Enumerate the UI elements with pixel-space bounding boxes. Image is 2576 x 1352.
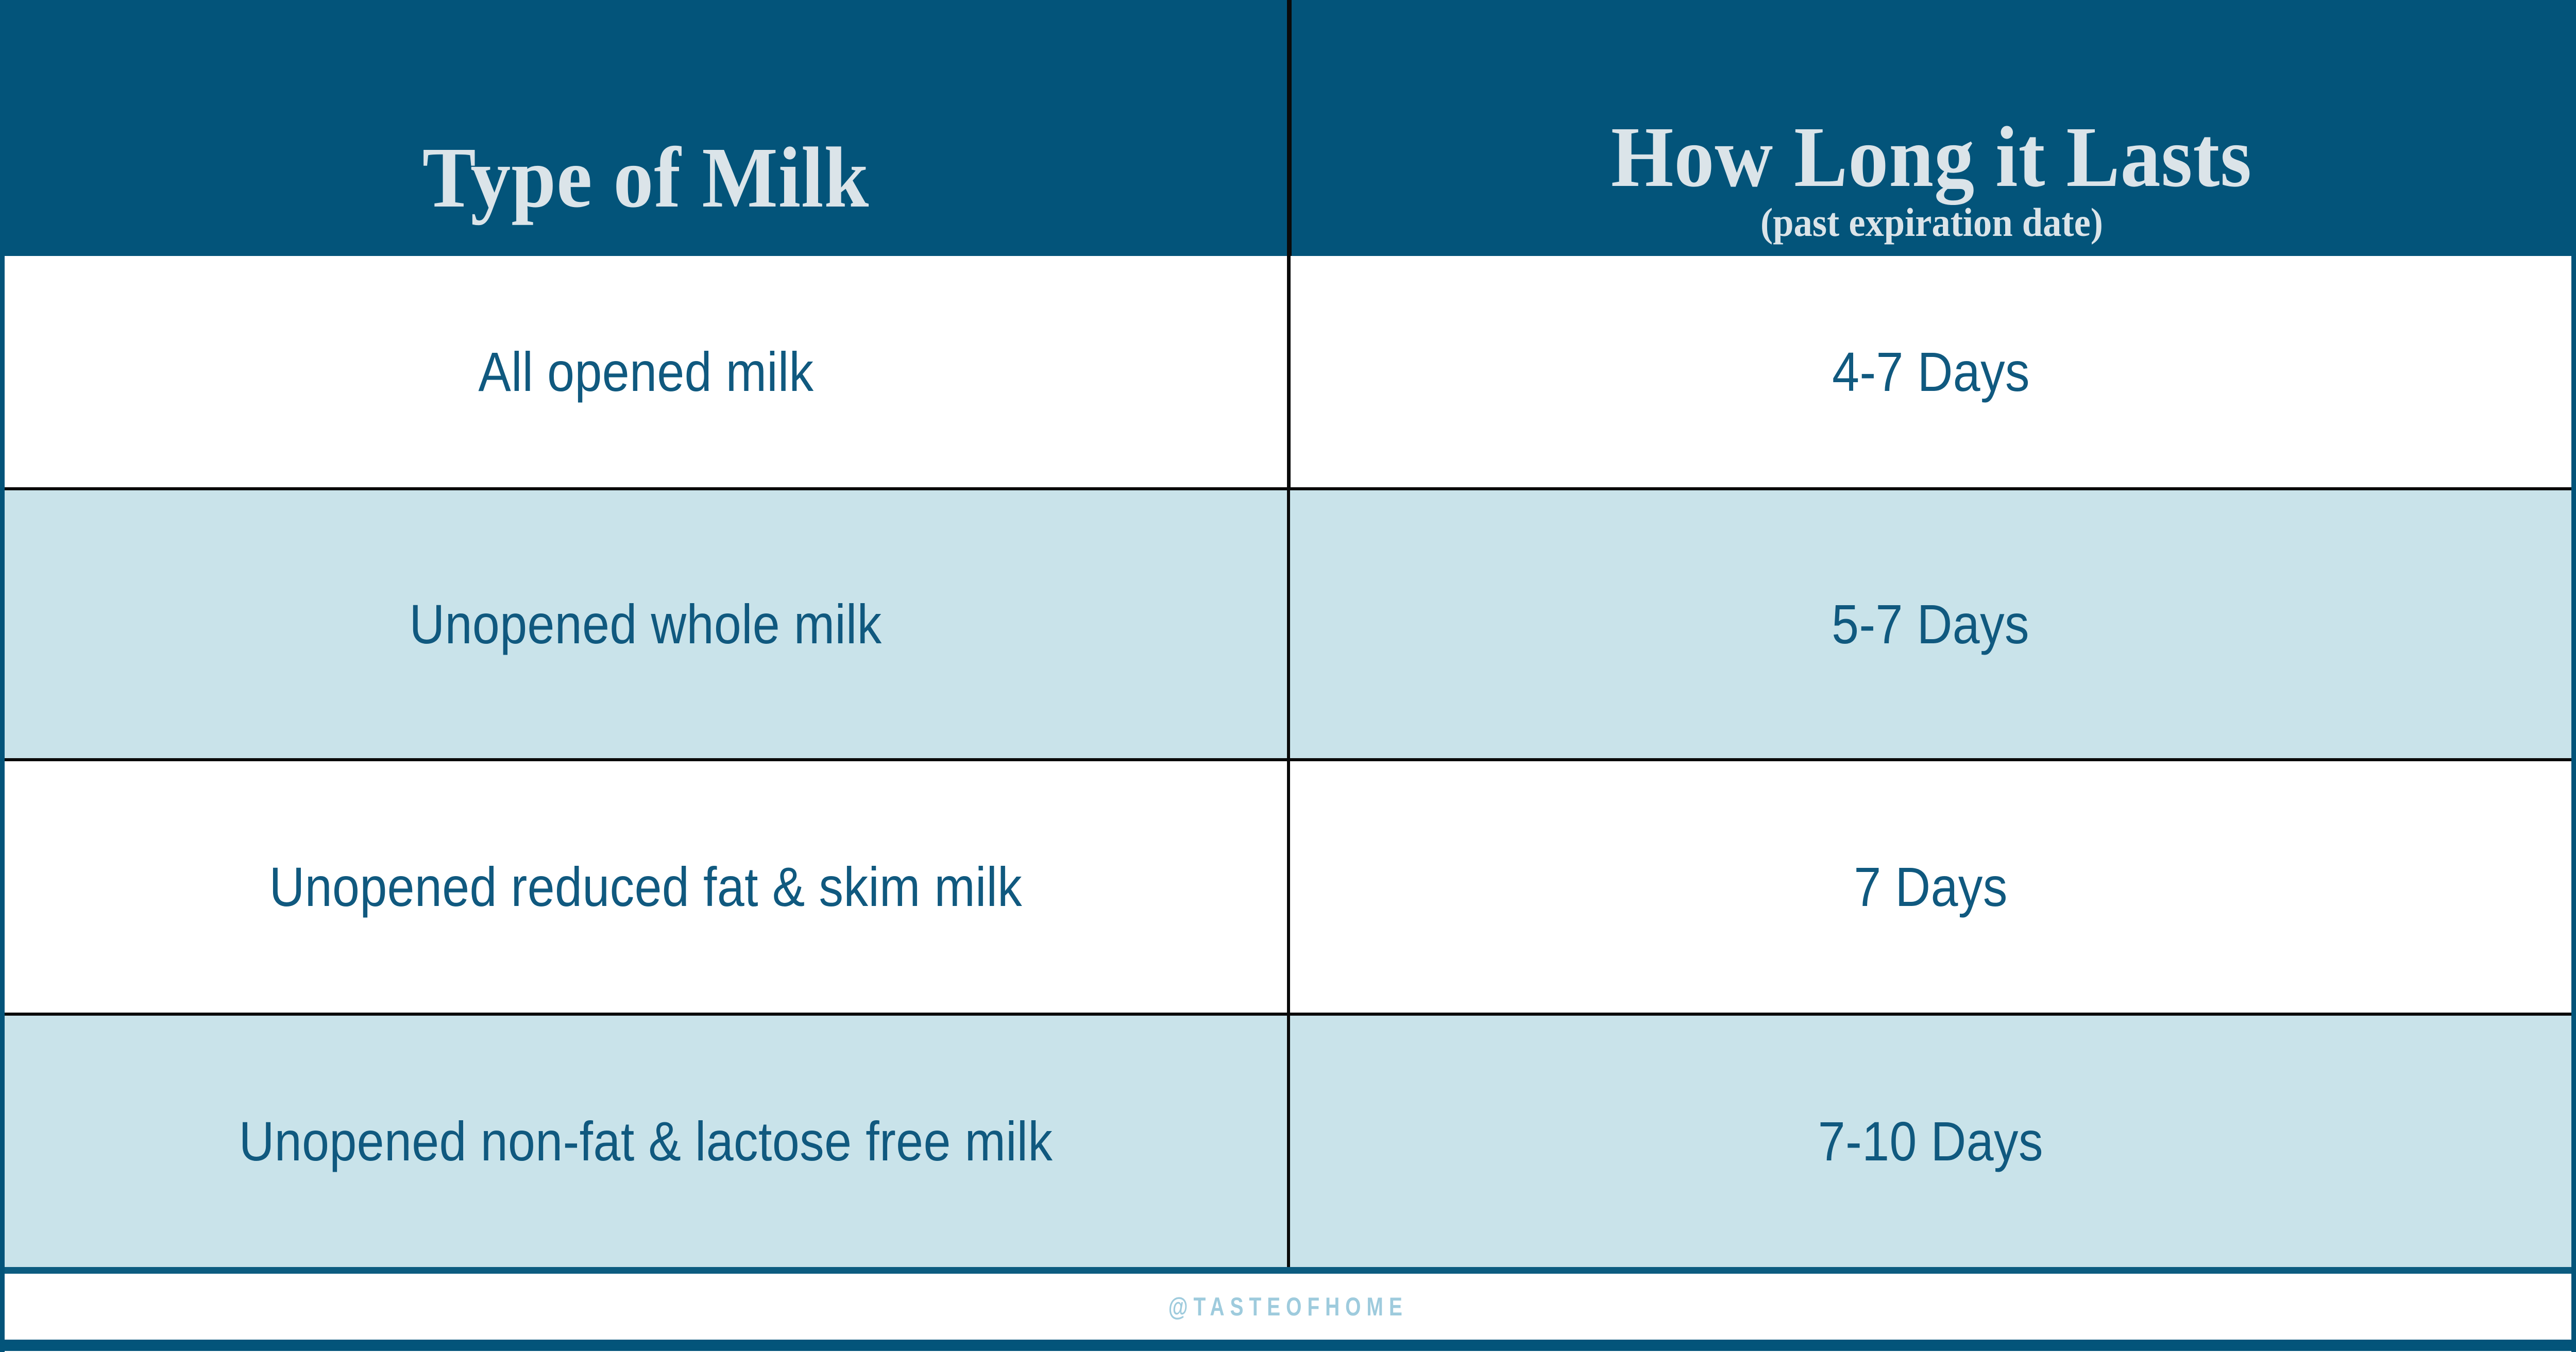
brand-handle: @TASTEOFHOME [1168,1292,1408,1322]
table-row: Unopened reduced fat & skim milk 7 Days [5,761,2571,1016]
header-subtitle-col2: (past expiration date) [1760,201,2103,251]
cell-duration: 5-7 Days [1287,490,2571,758]
header-title-col2: How Long it Lasts [1611,113,2252,201]
milk-type-label: All opened milk [478,339,814,404]
table-header-row: Type of Milk How Long it Lasts (past exp… [5,0,2571,256]
duration-label: 4-7 Days [1832,339,2030,404]
cell-milk-type: Unopened whole milk [5,490,1287,758]
cell-duration: 4-7 Days [1287,256,2571,487]
cell-milk-type: All opened milk [5,256,1287,487]
duration-label: 7 Days [1854,854,2007,919]
table-row: Unopened non-fat & lactose free milk 7-1… [5,1016,2571,1267]
table-body: All opened milk 4-7 Days Unopened whole … [5,256,2571,1267]
header-cell-type-of-milk: Type of Milk [5,0,1287,256]
duration-label: 7-10 Days [1818,1108,2043,1174]
cell-duration: 7 Days [1287,761,2571,1013]
header-cell-how-long-it-lasts: How Long it Lasts (past expiration date) [1287,0,2571,256]
milk-type-label: Unopened reduced fat & skim milk [269,854,1023,919]
table-row: All opened milk 4-7 Days [5,256,2571,490]
footer-top-rule [5,1267,2571,1274]
milk-type-label: Unopened whole milk [410,591,882,657]
cell-duration: 7-10 Days [1287,1016,2571,1267]
milk-type-label: Unopened non-fat & lactose free milk [239,1108,1053,1174]
table-row: Unopened whole milk 5-7 Days [5,490,2571,761]
footer: @TASTEOFHOME [5,1274,2571,1340]
bottom-border-rule [5,1340,2571,1351]
header-title-col1: Type of Milk [422,134,870,251]
duration-label: 5-7 Days [1832,591,2030,657]
cell-milk-type: Unopened non-fat & lactose free milk [5,1016,1287,1267]
cell-milk-type: Unopened reduced fat & skim milk [5,761,1287,1013]
milk-shelf-life-table: Type of Milk How Long it Lasts (past exp… [0,0,2576,1352]
